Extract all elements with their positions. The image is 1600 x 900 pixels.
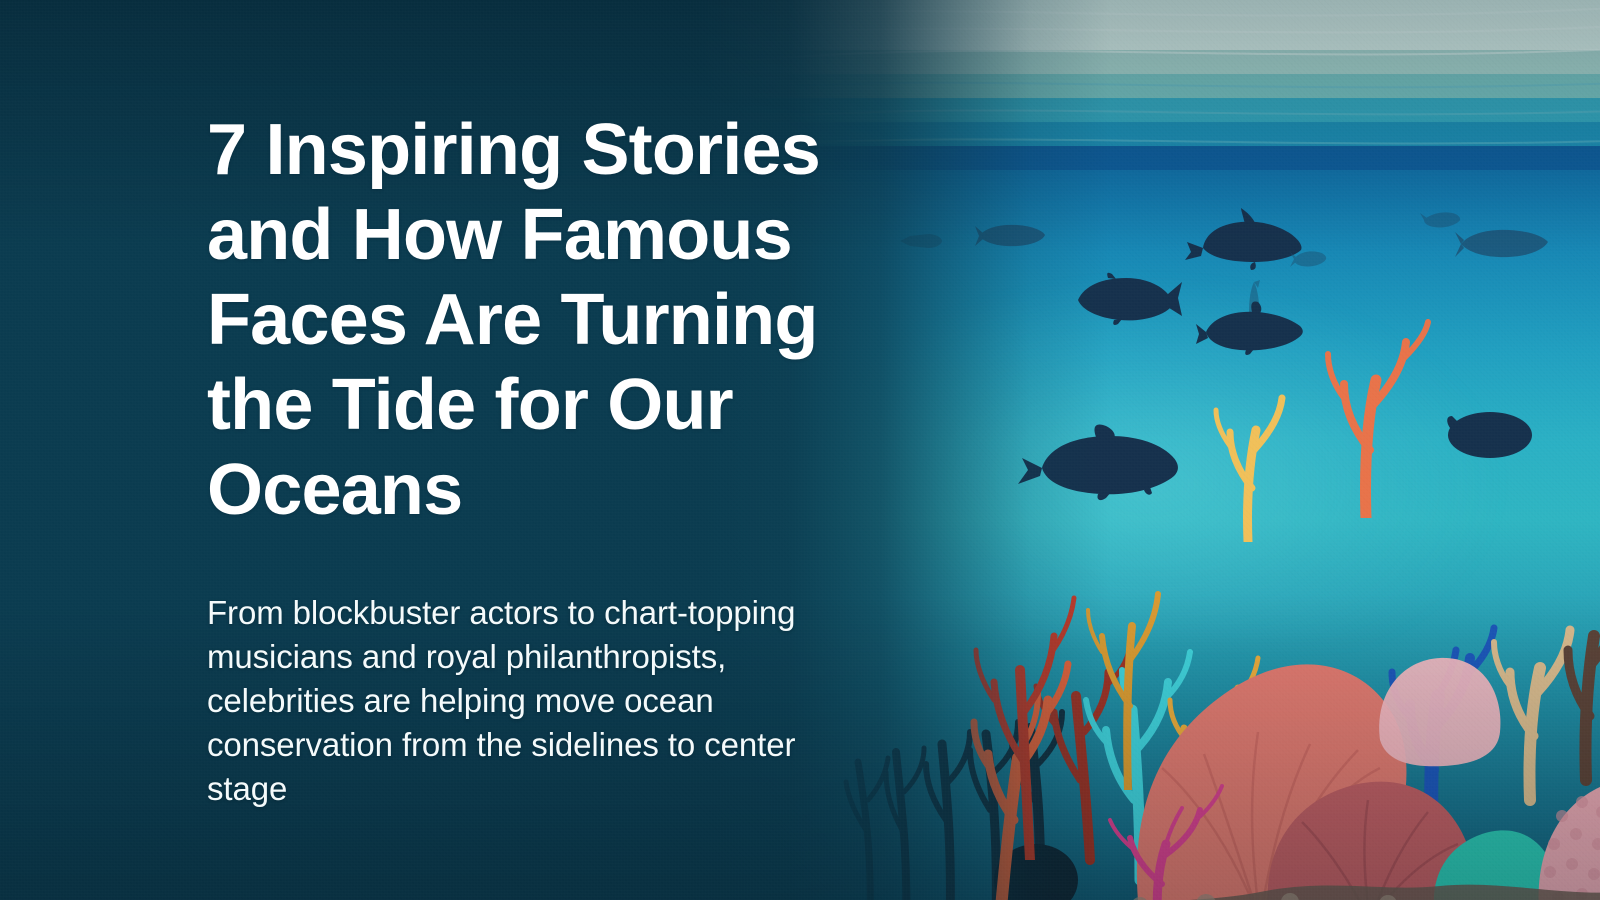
page-subtitle: From blockbuster actors to chart-topping… [207,591,832,811]
ocean-hero-banner: 7 Inspiring Stories and How Famous Faces… [0,0,1600,900]
page-title: 7 Inspiring Stories and How Famous Faces… [207,108,907,533]
hero-text-block: 7 Inspiring Stories and How Famous Faces… [207,108,927,811]
